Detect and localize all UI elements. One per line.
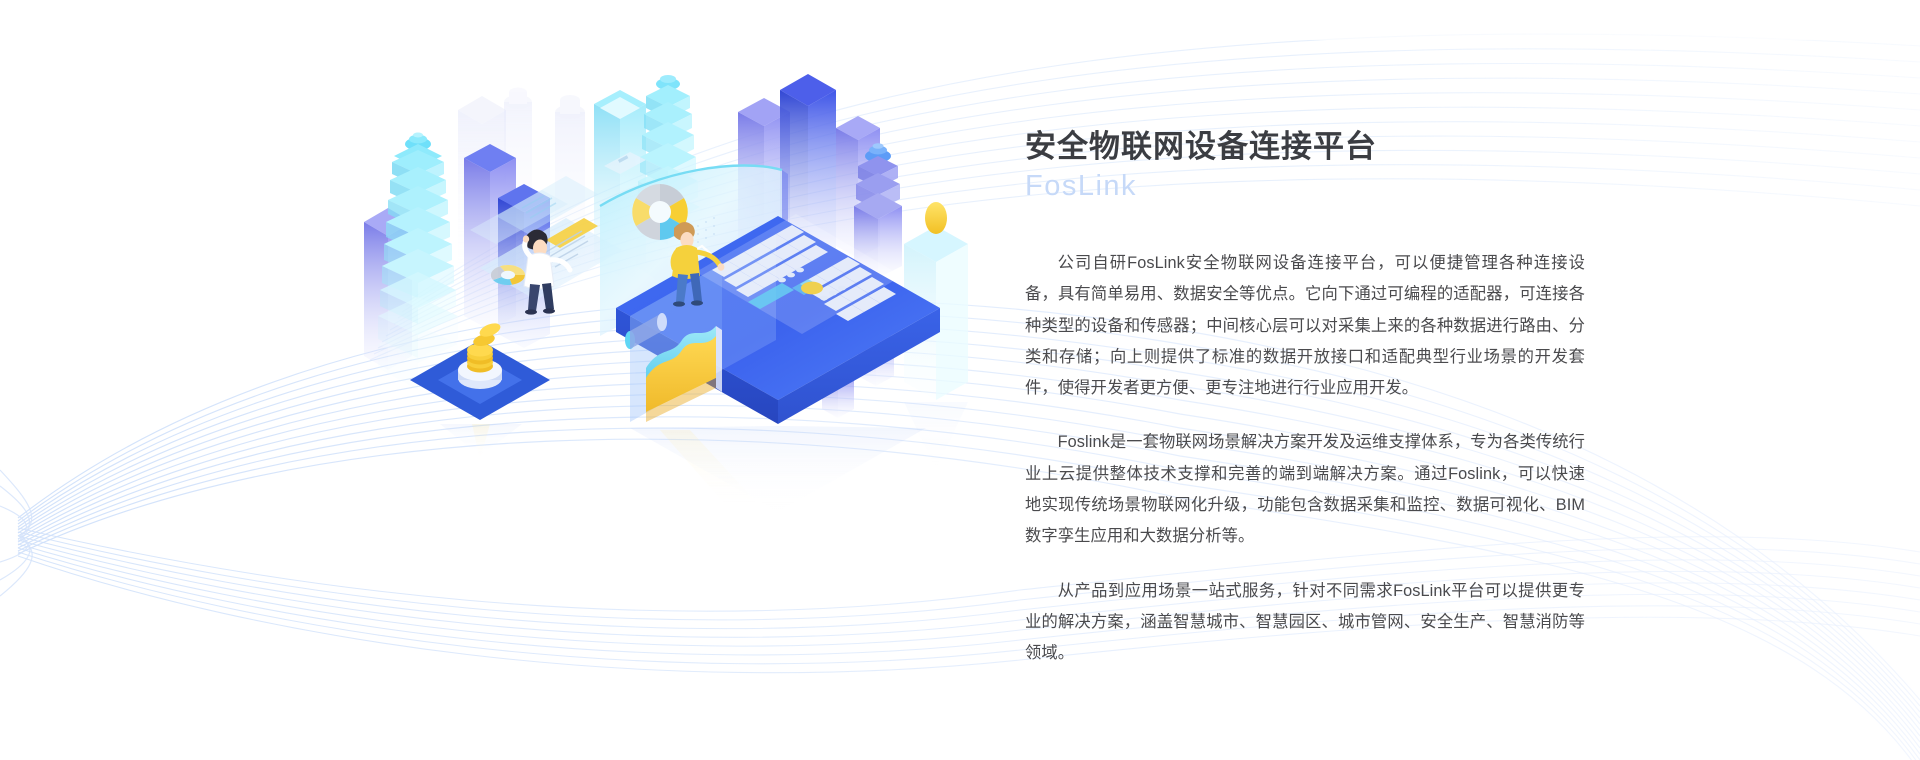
gold-token xyxy=(801,282,823,295)
paragraph-overview: 公司自研FosLink安全物联网设备连接平台，可以便捷管理各种连接设备，具有简单… xyxy=(1025,248,1585,404)
page-root: 安全物联网设备连接平台 FosLink 公司自研FosLink安全物联网设备连接… xyxy=(0,0,1920,760)
paragraph-scenarios: 从产品到应用场景一站式服务，针对不同需求FosLink平台可以提供更专业的解决方… xyxy=(1025,576,1585,670)
donut-chart-small xyxy=(491,265,525,285)
product-subtitle: FosLink xyxy=(1025,168,1585,204)
description-body: 公司自研FosLink安全物联网设备连接平台，可以便捷管理各种连接设备，具有简单… xyxy=(1025,248,1585,669)
building-pagoda-cyan xyxy=(378,133,458,391)
page-title: 安全物联网设备连接平台 xyxy=(1025,128,1585,166)
paragraph-solution: Foslink是一套物联网场景解决方案开发及运维支撑体系，专为各类传统行业上云提… xyxy=(1025,427,1585,552)
content-column: 安全物联网设备连接平台 FosLink 公司自研FosLink安全物联网设备连接… xyxy=(1025,128,1585,669)
hero-illustration xyxy=(330,40,970,540)
